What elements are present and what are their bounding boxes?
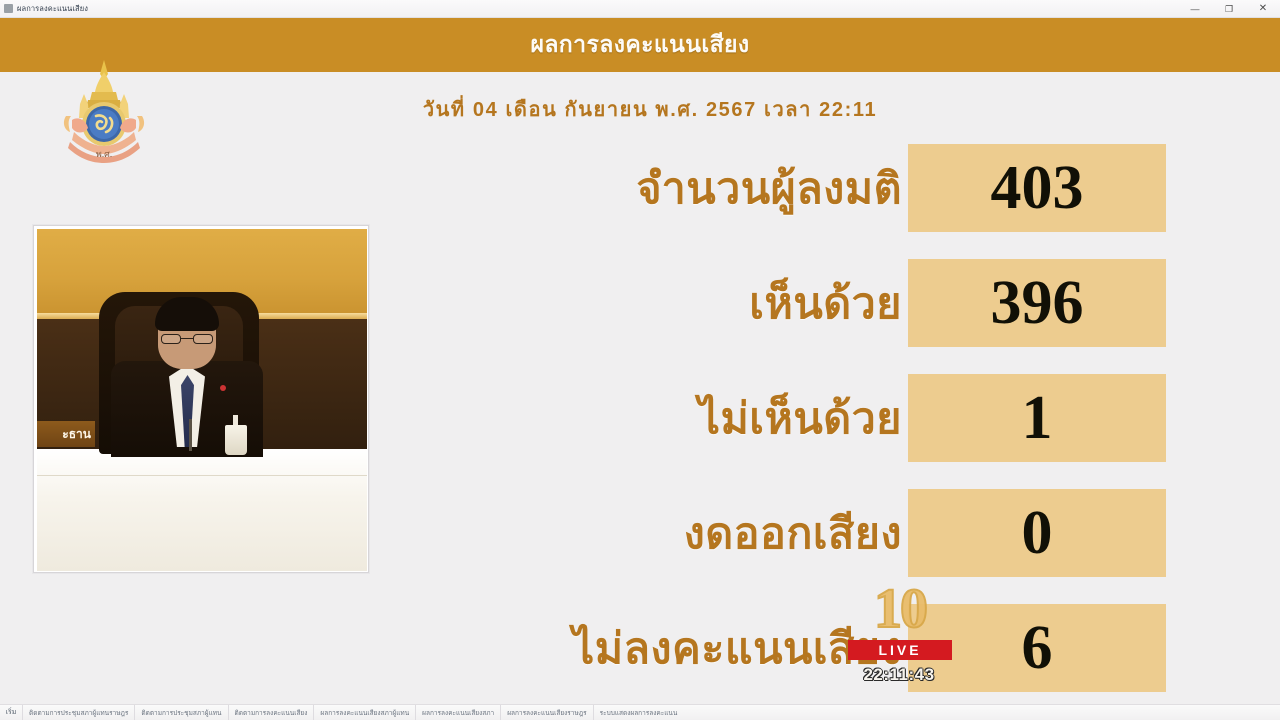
maximize-button[interactable]: ❐ — [1212, 0, 1246, 18]
window-title: ผลการลงคะแนนเสียง — [17, 3, 88, 15]
water-glass — [225, 425, 247, 455]
header-band: ผลการลงคะแนนเสียง — [0, 18, 1280, 72]
channel-number: 10 — [846, 578, 954, 640]
window-controls: — ❐ ✕ — [1178, 0, 1280, 18]
taskbar-item[interactable]: ติดตามการลงคะแนนเสียง — [228, 705, 314, 720]
result-value: 1 — [1022, 387, 1053, 449]
result-label: งดออกเสียง — [260, 485, 908, 580]
result-value: 6 — [1022, 617, 1053, 679]
result-value-box: 0 — [908, 489, 1166, 577]
table-row: เห็นด้วย 396 — [260, 255, 1260, 350]
window-titlebar: ผลการลงคะแนนเสียง — ❐ ✕ — [0, 0, 1280, 18]
result-value: 403 — [991, 157, 1084, 219]
taskbar-item[interactable]: ผลการลงคะแนนเสียงราษฎร — [500, 705, 592, 720]
result-label: เห็นด้วย — [260, 255, 908, 350]
broadcast-clock: 22:11:43 — [838, 664, 960, 686]
taskbar-item[interactable]: ผลการลงคะแนนเสียงสภา — [415, 705, 500, 720]
minimize-button[interactable]: — — [1178, 0, 1212, 18]
voting-results-window: ผลการลงคะแนนเสียง — ❐ ✕ ผลการลงคะแนนเสีย… — [0, 0, 1280, 720]
taskbar: เริ่ม ติดตามการประชุมสภาผู้แทนราษฎร ติดต… — [0, 704, 1280, 720]
thai-royal-emblem-icon: พ.ศ. — [58, 58, 150, 166]
broadcaster-watermark: 10 LIVE 22:11:43 — [838, 578, 960, 700]
result-value-box: 403 — [908, 144, 1166, 232]
result-value: 0 — [1022, 502, 1053, 564]
table-row: ไม่ลงคะแนนเสียง 6 — [260, 600, 1260, 695]
taskbar-item[interactable]: ติดตามการประชุมสภาผู้แทน — [134, 705, 227, 720]
page-title: ผลการลงคะแนนเสียง — [0, 18, 1280, 72]
result-value-box: 1 — [908, 374, 1166, 462]
desk-microphone — [189, 419, 192, 451]
dateline: วันที่ 04 เดือน กันยายน พ.ศ. 2567 เวลา 2… — [200, 92, 1100, 126]
live-badge: LIVE — [848, 640, 952, 660]
result-label: ไม่เห็นด้วย — [260, 370, 908, 465]
svg-text:พ.ศ.: พ.ศ. — [96, 149, 112, 159]
lower-third-text: ะธาน — [62, 425, 95, 444]
close-button[interactable]: ✕ — [1246, 0, 1280, 18]
result-label: จำนวนผู้ลงมติ — [260, 140, 908, 235]
speaker-glasses-icon — [161, 334, 213, 344]
taskbar-item[interactable]: ระบบแสดงผลการลงคะแนน — [593, 705, 684, 720]
table-row: จำนวนผู้ลงมติ 403 — [260, 140, 1260, 235]
result-value-box: 396 — [908, 259, 1166, 347]
taskbar-item[interactable]: ติดตามการประชุมสภาผู้แทนราษฎร — [22, 705, 134, 720]
lower-third-caption: ะธาน — [37, 421, 95, 447]
results-table: จำนวนผู้ลงมติ 403 เห็นด้วย 396 ไม่เห็นด้… — [260, 140, 1260, 710]
table-row: งดออกเสียง 0 — [260, 485, 1260, 580]
table-row: ไม่เห็นด้วย 1 — [260, 370, 1260, 465]
result-value: 396 — [991, 272, 1084, 334]
app-icon — [4, 4, 13, 13]
taskbar-item[interactable]: ผลการลงคะแนนเสียงสภาผู้แทน — [313, 705, 415, 720]
start-button[interactable]: เริ่ม — [0, 705, 22, 720]
speaker-lapel-pin — [220, 385, 226, 391]
result-label: ไม่ลงคะแนนเสียง — [260, 600, 908, 695]
